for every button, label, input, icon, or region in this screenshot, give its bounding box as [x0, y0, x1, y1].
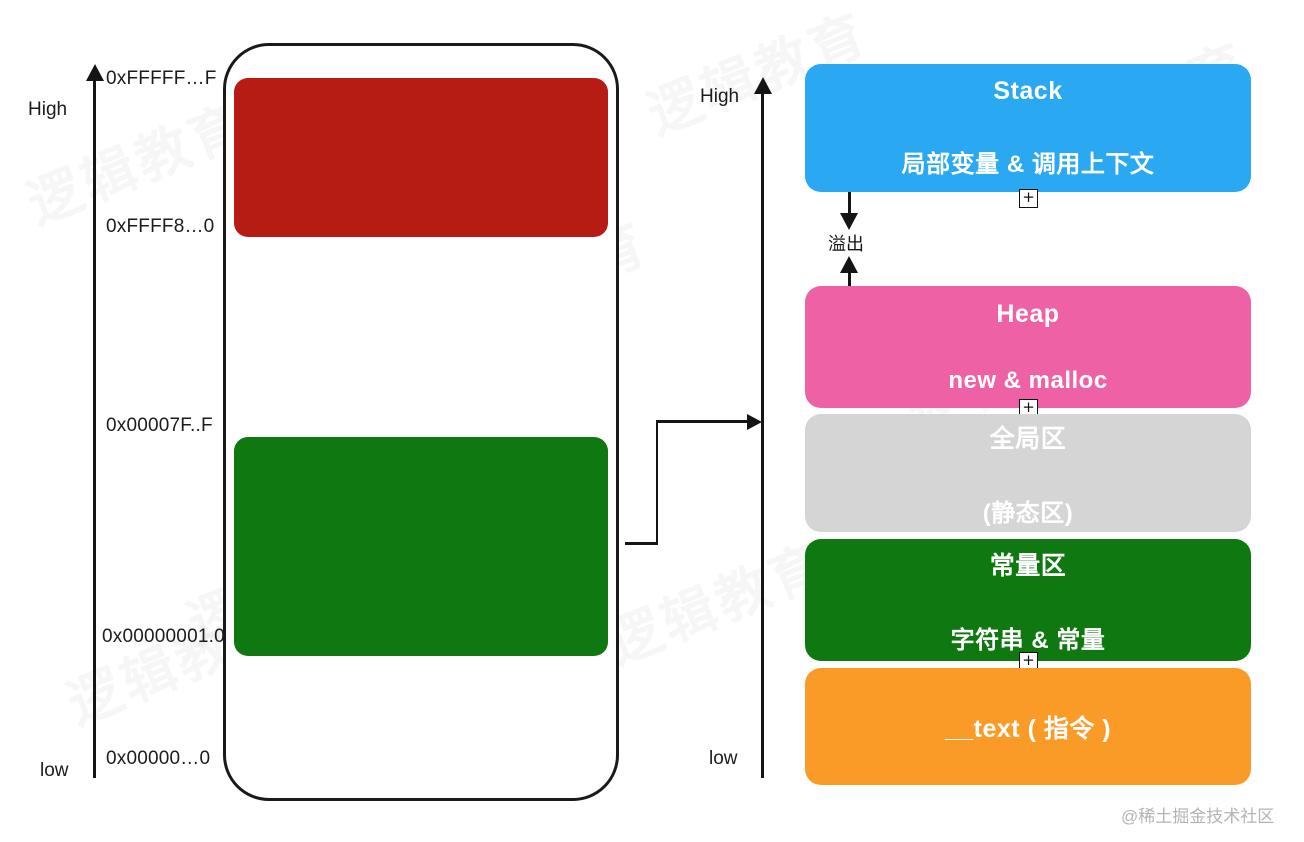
right-axis-arrow-icon	[754, 77, 772, 94]
left-axis-low-label: low	[40, 760, 69, 782]
memory-block-heap[interactable]: Heap new & malloc	[805, 286, 1251, 408]
overflow-down-arrow-icon	[840, 213, 858, 230]
address-label-4: 0x00000…0	[106, 748, 210, 770]
resize-handle-icon[interactable]: +	[1019, 189, 1038, 208]
memory-block-const-title: 常量区	[990, 546, 1067, 582]
device-segment-kernel	[234, 78, 608, 237]
connector-arrow-icon	[747, 414, 762, 430]
connector-segment-v	[656, 421, 659, 544]
connector-segment-h1	[625, 542, 658, 545]
plus-glyph: +	[1022, 400, 1035, 415]
memory-block-text-title: __text ( 指令 )	[945, 709, 1111, 745]
memory-block-heap-subtitle: new & malloc	[948, 367, 1107, 395]
left-axis-arrow-icon	[86, 64, 104, 81]
memory-block-const[interactable]: 常量区 字符串 & 常量	[805, 539, 1251, 661]
credit-watermark: @稀土掘金技术社区	[1121, 802, 1274, 827]
memory-block-global-title: 全局区	[990, 419, 1067, 455]
right-axis-line	[761, 93, 764, 778]
left-axis-high-label: High	[28, 99, 67, 121]
address-label-0: 0xFFFFF…F	[106, 68, 217, 90]
right-axis-low-label: low	[709, 748, 738, 770]
connector-segment-h2	[656, 420, 749, 423]
left-axis-line	[93, 80, 96, 778]
device-segment-user	[234, 437, 608, 656]
overflow-label: 溢出	[828, 230, 864, 256]
diagram-canvas: 逻辑教育 逻辑教育 逻辑教育 逻辑教育 逻辑教育 逻辑教育 逻辑教育 逻辑教育 …	[0, 0, 1304, 842]
memory-block-stack-title: Stack	[993, 77, 1062, 106]
memory-block-stack[interactable]: Stack 局部变量 & 调用上下文	[805, 64, 1251, 192]
address-label-1: 0xFFFF8…0	[106, 216, 214, 238]
memory-block-const-subtitle: 字符串 & 常量	[951, 620, 1106, 655]
memory-block-heap-title: Heap	[996, 300, 1059, 329]
memory-block-stack-subtitle: 局部变量 & 调用上下文	[902, 144, 1155, 179]
device-frame	[223, 43, 619, 801]
memory-block-global-subtitle: (静态区)	[983, 493, 1073, 528]
memory-block-text[interactable]: __text ( 指令 )	[805, 668, 1251, 785]
address-label-2: 0x00007F..F	[106, 415, 213, 437]
memory-block-global[interactable]: 全局区 (静态区)	[805, 414, 1251, 532]
address-label-3: 0x00000001.0	[102, 626, 225, 648]
plus-glyph: +	[1022, 190, 1035, 205]
right-axis-high-label: High	[700, 86, 739, 108]
plus-glyph: +	[1022, 653, 1035, 668]
